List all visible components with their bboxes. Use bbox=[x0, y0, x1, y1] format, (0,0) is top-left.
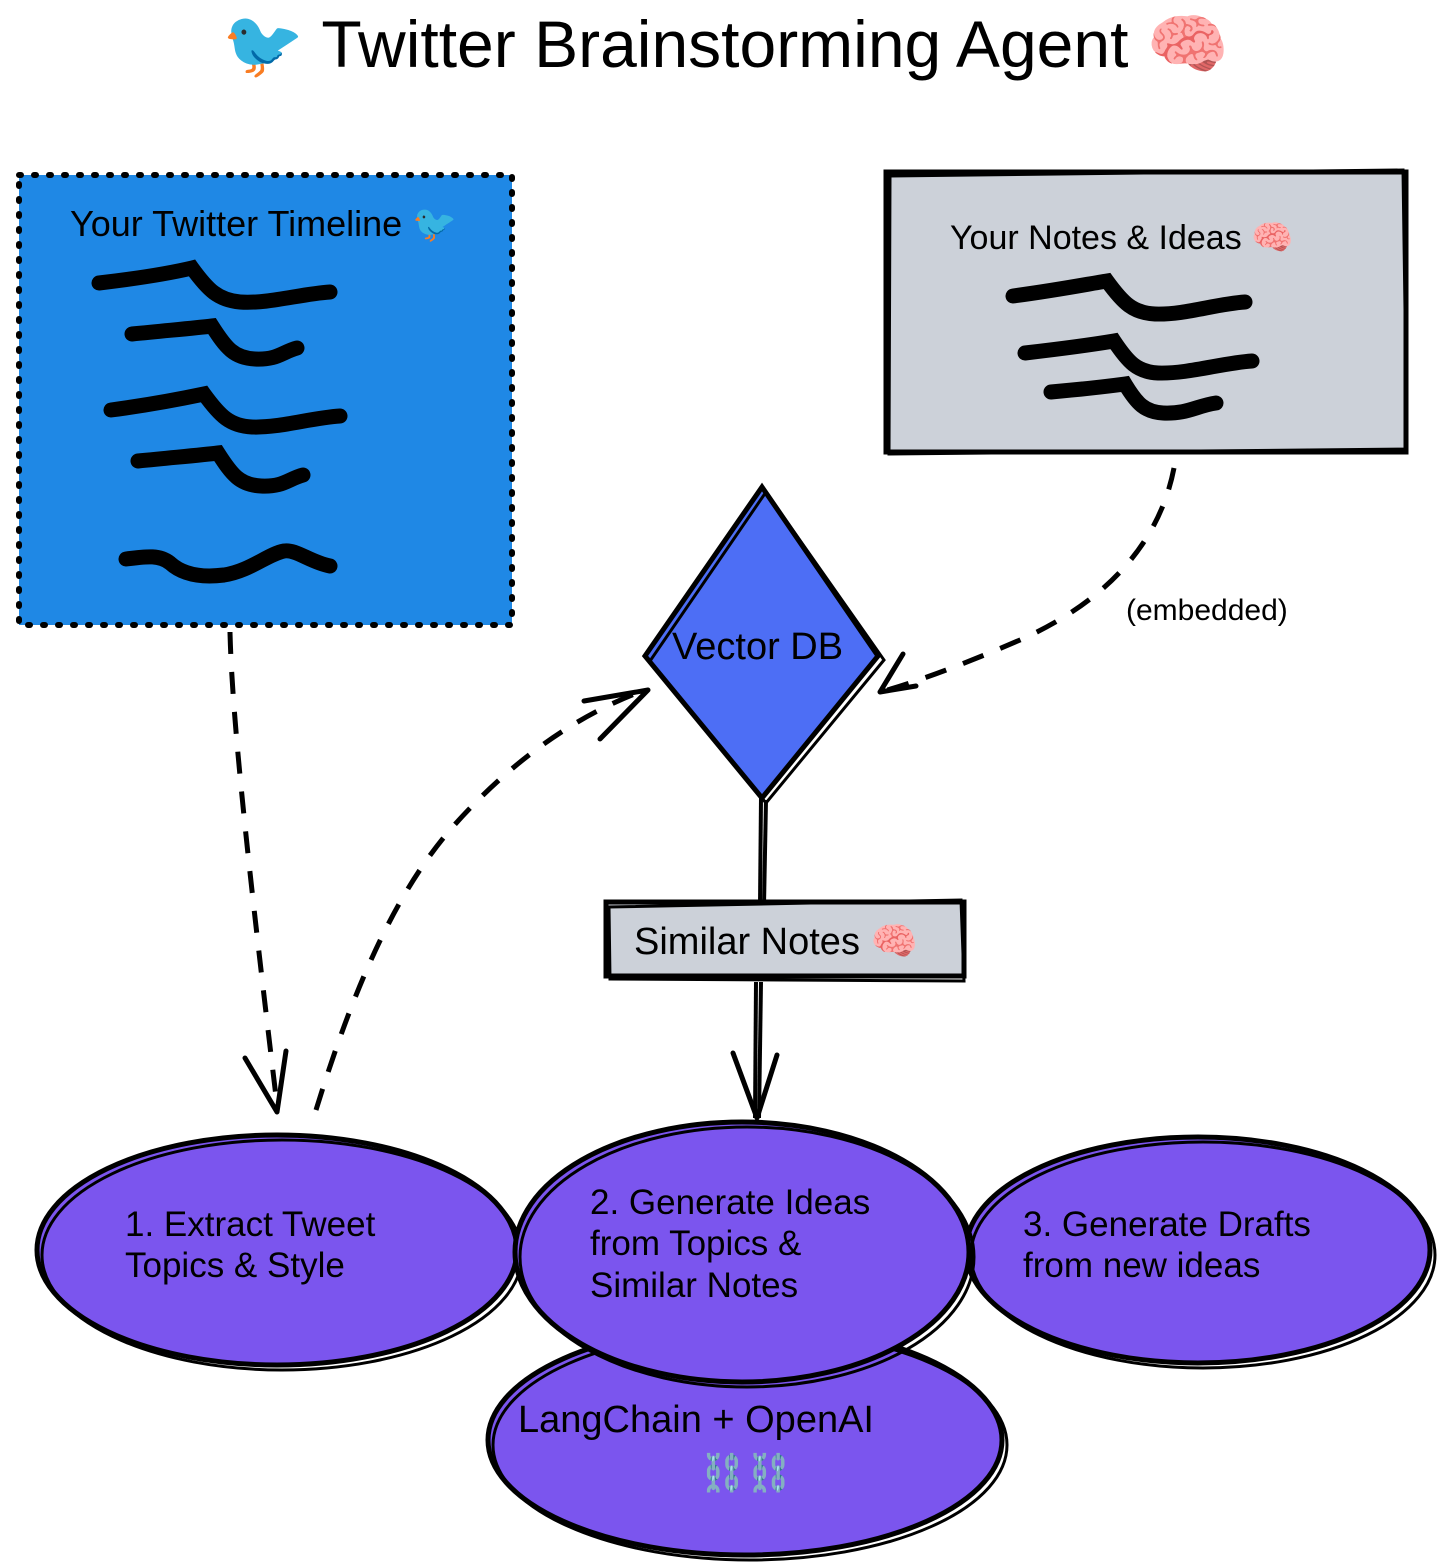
edge-similarnotes-to-step2-line-a bbox=[755, 982, 756, 1118]
diagram-canvas: 🐦 Twitter Brainstorming Agent 🧠 bbox=[0, 0, 1451, 1562]
similar-notes-box[interactable] bbox=[606, 902, 964, 976]
edge-twitter-to-step1-arrowhead bbox=[245, 1051, 286, 1112]
edge-vectordb-to-similarnotes-line-a bbox=[760, 798, 761, 905]
edge-step1-to-vectordb bbox=[316, 690, 648, 1110]
edge-twitter-to-step1-line bbox=[230, 632, 277, 1105]
vector-db-node[interactable] bbox=[645, 487, 884, 803]
vector-db-diamond[interactable] bbox=[645, 487, 878, 798]
step1-node[interactable] bbox=[37, 1135, 522, 1370]
notes-ideas-node[interactable] bbox=[886, 170, 1407, 454]
edge-twitter-to-step1 bbox=[230, 632, 286, 1112]
edge-notes-to-vectordb bbox=[880, 468, 1174, 692]
twitter-timeline-node[interactable] bbox=[19, 175, 512, 625]
edge-notes-to-vectordb-line bbox=[880, 468, 1174, 692]
edge-step1-to-vectordb-line bbox=[316, 690, 645, 1110]
edge-vectordb-to-similarnotes bbox=[760, 798, 766, 905]
similar-notes-node[interactable] bbox=[606, 900, 964, 981]
step3-node[interactable] bbox=[966, 1137, 1435, 1368]
edge-similarnotes-to-step2-line-b bbox=[759, 982, 761, 1118]
edge-similarnotes-to-step2 bbox=[733, 982, 777, 1118]
edge-vectordb-to-similarnotes-line-b bbox=[764, 800, 766, 905]
step2-node[interactable] bbox=[515, 1122, 974, 1387]
shape-layer bbox=[0, 0, 1451, 1562]
